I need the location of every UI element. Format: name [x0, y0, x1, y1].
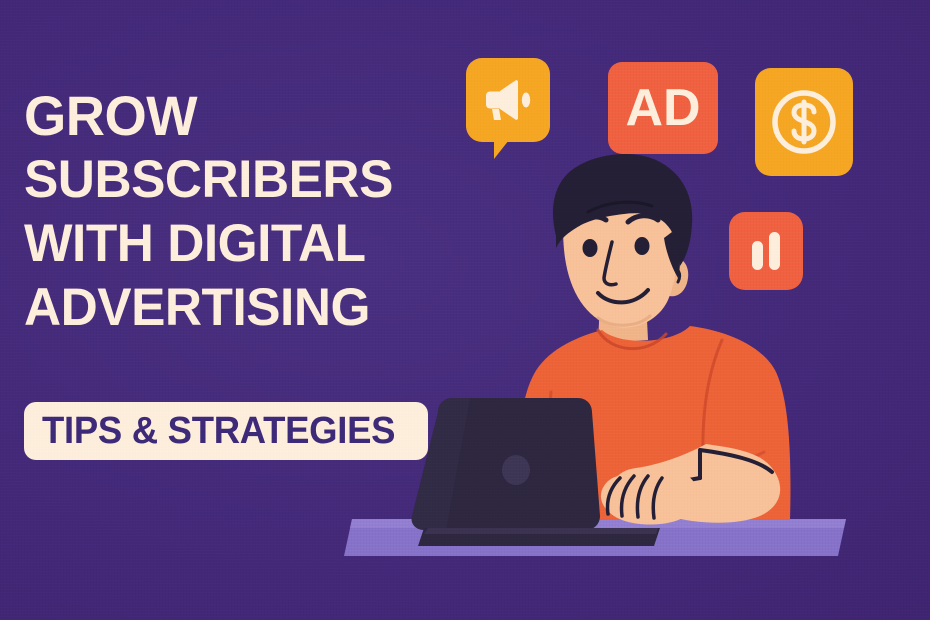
coin-badge: [755, 68, 853, 176]
bar-chart-icon: [749, 232, 783, 270]
headline-line-2: SUBSCRIBERS: [24, 148, 431, 212]
subtitle-badge: TIPS & STRATEGIES: [24, 402, 428, 460]
person-head: [553, 154, 692, 328]
speech-bubble-tail: [494, 140, 509, 159]
ad-banner: GROW SUBSCRIBERS WITH DIGITAL ADVERTISIN…: [0, 0, 930, 620]
megaphone-badge: [466, 58, 550, 142]
person-hand: [601, 470, 698, 525]
chart-badge: [729, 212, 803, 290]
headline-line-4: ADVERTISING: [24, 276, 431, 340]
subtitle-text: TIPS & STRATEGIES: [42, 412, 395, 450]
megaphone-icon: [484, 79, 532, 121]
headline: GROW SUBSCRIBERS WITH DIGITAL ADVERTISIN…: [24, 84, 444, 340]
ad-badge: AD: [608, 62, 718, 154]
headline-line-3: WITH DIGITAL: [24, 212, 431, 276]
ad-label: AD: [625, 82, 700, 134]
dollar-coin-icon: [768, 86, 840, 158]
headline-line-1: GROW: [24, 84, 431, 148]
